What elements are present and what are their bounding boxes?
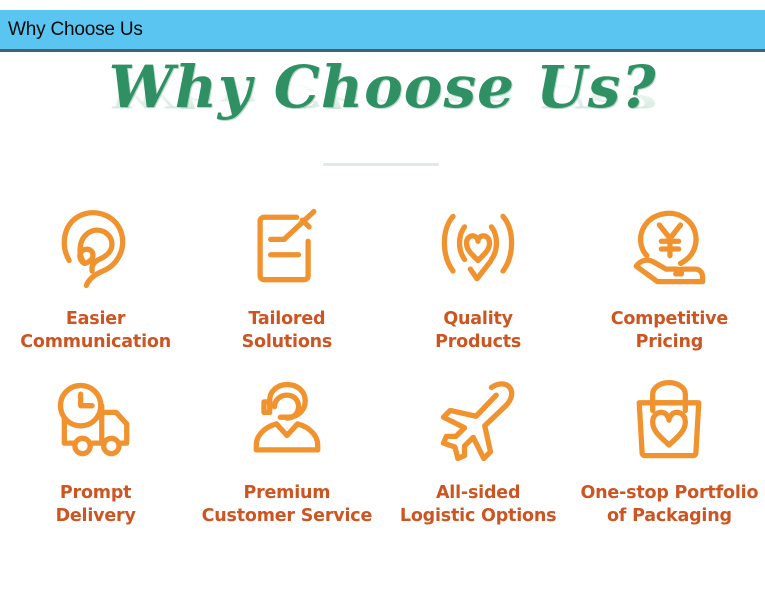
feature-label: Competitive Pricing	[611, 308, 728, 355]
feature-label-line1: Quality	[435, 308, 521, 331]
window-title: Why Choose Us	[8, 19, 143, 41]
feature-card-easier-communication[interactable]: Easier Communication	[0, 196, 191, 368]
shopping-bag-heart-icon	[617, 370, 721, 474]
window-titlebar: Why Choose Us	[0, 10, 765, 52]
feature-label-line1: One-stop Portfolio	[580, 482, 758, 505]
headset-agent-icon	[235, 370, 339, 474]
feature-label-line2: Communication	[20, 331, 171, 354]
feature-label-line1: Premium	[202, 482, 372, 505]
feature-card-one-stop-portfolio[interactable]: One-stop Portfolio of Packaging	[574, 368, 765, 540]
feature-label-line1: Easier	[20, 308, 171, 331]
feature-label-line2: Pricing	[611, 331, 728, 354]
feature-card-premium-customer-service[interactable]: Premium Customer Service	[191, 368, 382, 540]
hero-section: Why Choose Us? Why Choose Us?	[0, 58, 765, 170]
feature-label: Premium Customer Service	[202, 482, 372, 529]
feature-card-quality-products[interactable]: Quality Products	[383, 196, 574, 368]
feature-grid: Easier Communication Tailored Solutions	[0, 196, 765, 540]
feature-label: One-stop Portfolio of Packaging	[580, 482, 758, 529]
feature-label: Prompt Delivery	[56, 482, 136, 529]
feature-card-tailored-solutions[interactable]: Tailored Solutions	[191, 196, 382, 368]
feature-label: Easier Communication	[20, 308, 171, 355]
airplane-icon	[426, 370, 530, 474]
document-pencil-icon	[235, 196, 339, 300]
hero-heading-wrapper: Why Choose Us? Why Choose Us?	[0, 58, 765, 170]
hand-yen-coin-icon	[617, 196, 721, 300]
feature-label: Tailored Solutions	[242, 308, 333, 355]
feature-card-all-sided-logistic-options[interactable]: All-sided Logistic Options	[383, 368, 574, 540]
feature-label-line2: Delivery	[56, 505, 136, 528]
feature-label-line2: Logistic Options	[400, 505, 556, 528]
feature-label-line1: Prompt	[56, 482, 136, 505]
ear-listening-icon	[44, 196, 148, 300]
feature-label: All-sided Logistic Options	[400, 482, 556, 529]
feature-label-line2: Products	[435, 331, 521, 354]
feature-label-line2: of Packaging	[580, 505, 758, 528]
page-title: Why Choose Us?	[109, 58, 657, 116]
feature-label-line1: Competitive	[611, 308, 728, 331]
feature-label-line2: Solutions	[242, 331, 333, 354]
feature-card-competitive-pricing[interactable]: Competitive Pricing	[574, 196, 765, 368]
hero-divider	[323, 163, 439, 166]
truck-clock-icon	[44, 370, 148, 474]
feature-label-line2: Customer Service	[202, 505, 372, 528]
feature-label: Quality Products	[435, 308, 521, 355]
feature-card-prompt-delivery[interactable]: Prompt Delivery	[0, 368, 191, 540]
heart-check-signal-icon	[426, 196, 530, 300]
feature-label-line1: All-sided	[400, 482, 556, 505]
feature-label-line1: Tailored	[242, 308, 333, 331]
